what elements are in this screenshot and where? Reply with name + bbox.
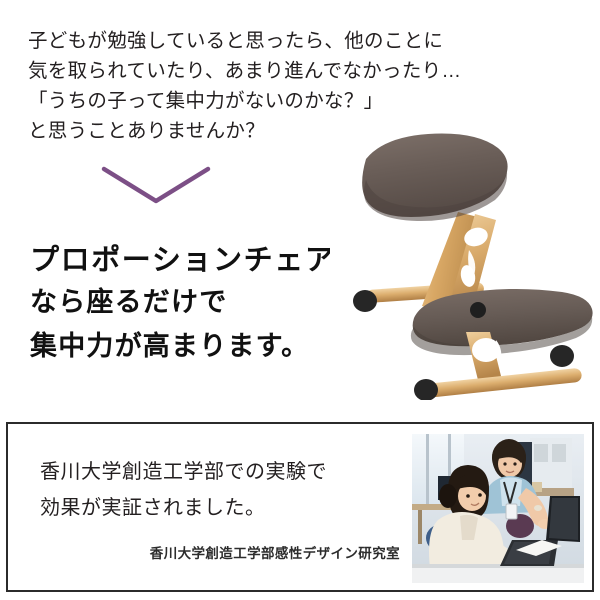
intro-line-2: 気を取られていたり、あまり進んでなかったり… — [28, 56, 498, 86]
evidence-text: 香川大学創造工学部での実験で 効果が実証されました。 — [40, 454, 400, 526]
product-name: プロポーションチェア® — [30, 236, 380, 280]
chair-product-photo — [330, 118, 598, 400]
evidence-caption: 香川大学創造工学部感性デザイン研究室 — [40, 542, 400, 562]
evidence-box: 香川大学創造工学部での実験で 効果が実証されました。 香川大学創造工学部感性デザ… — [6, 422, 594, 592]
product-name-text: プロポーションチェア — [30, 245, 335, 277]
intro-line-3: 「うちの子って集中力がないのかな？」 — [28, 86, 498, 116]
headline-line-3: 集中力が高まります。 — [30, 324, 380, 368]
lab-experiment-photo — [412, 434, 584, 583]
advertisement-page: 子どもが勉強していると思ったら、他のことに 気を取られていたり、あまり進んでなか… — [0, 0, 600, 600]
intro-line-1: 子どもが勉強していると思ったら、他のことに — [28, 26, 498, 56]
chevron-down-icon — [96, 163, 216, 207]
headline-block: プロポーションチェア® なら座るだけで 集中力が高まります。 — [30, 236, 380, 368]
evidence-line-2: 効果が実証されました。 — [40, 490, 400, 526]
evidence-line-1: 香川大学創造工学部での実験で — [40, 454, 400, 490]
headline-line-2: なら座るだけで — [30, 280, 380, 324]
